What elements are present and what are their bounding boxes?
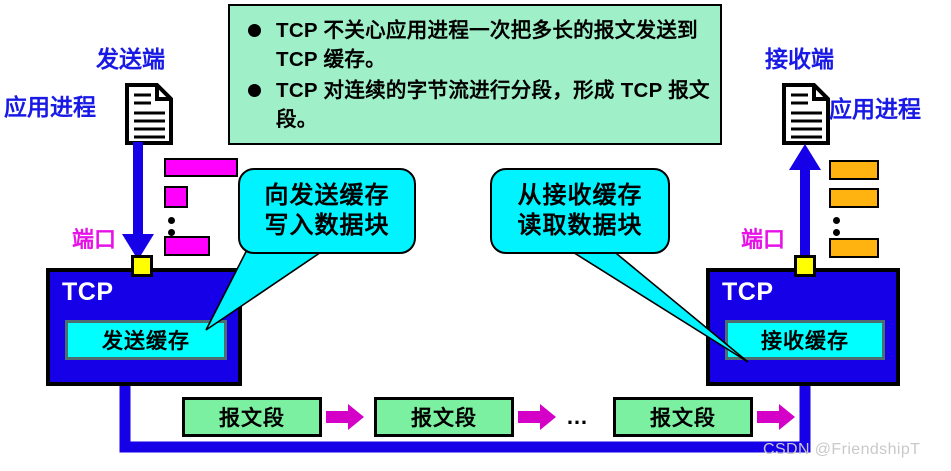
segment-ellipsis: … — [566, 404, 590, 430]
port-square-right — [794, 255, 816, 277]
arrow-right-icon — [326, 404, 364, 430]
tcp-buffer-diagram: TCP 不关心应用进程一次把多长的报文发送到 TCP 缓存。 TCP 对连续的字… — [0, 0, 951, 471]
port-square-left — [131, 255, 153, 277]
callout-line: 读取数据块 — [518, 211, 643, 241]
arrow-right-icon — [757, 404, 795, 430]
callout-line: 从接收缓存 — [518, 181, 643, 211]
callout-read-from-recv-buffer: 从接收缓存 读取数据块 — [490, 168, 670, 254]
segment-box: 报文段 — [182, 397, 322, 437]
arrow-right-icon — [518, 404, 556, 430]
callout-line: 写入数据块 — [265, 211, 390, 241]
segment-box: 报文段 — [613, 397, 753, 437]
callout-line: 向发送缓存 — [265, 181, 390, 211]
segment-box: 报文段 — [374, 397, 514, 437]
callout-write-to-send-buffer: 向发送缓存 写入数据块 — [238, 168, 416, 254]
watermark: CSDN @FriendshipT — [763, 441, 920, 459]
